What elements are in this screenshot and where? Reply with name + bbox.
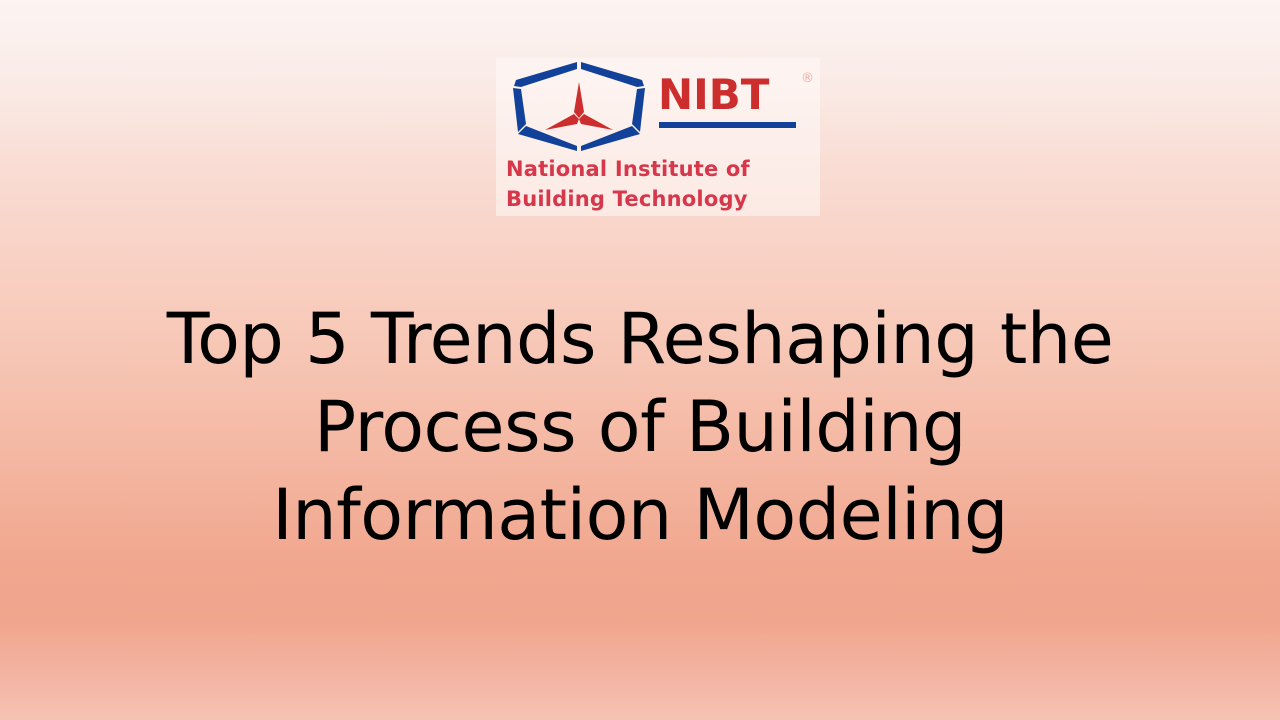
title-line-3: Information Modeling (90, 471, 1190, 559)
nibt-wordmark: NIBT ® (658, 72, 818, 142)
title-line-2: Process of Building (90, 383, 1190, 471)
nibt-wordmark-text: NIBT (658, 72, 769, 118)
tagline-line-1: National Institute of (506, 154, 816, 184)
hexagon-emblem-icon (504, 60, 654, 152)
registered-trademark-icon: ® (801, 72, 814, 85)
presentation-slide: NIBT ® National Institute of Building Te… (0, 0, 1280, 720)
title-line-1: Top 5 Trends Reshaping the (90, 295, 1190, 383)
logo-tagline: National Institute of Building Technolog… (506, 154, 816, 214)
slide-title: Top 5 Trends Reshaping the Process of Bu… (90, 295, 1190, 559)
logo-top-row: NIBT ® (496, 58, 820, 154)
nibt-logo: NIBT ® National Institute of Building Te… (496, 58, 820, 216)
tagline-line-2: Building Technology (506, 184, 816, 214)
nibt-underline-bar (659, 122, 796, 128)
